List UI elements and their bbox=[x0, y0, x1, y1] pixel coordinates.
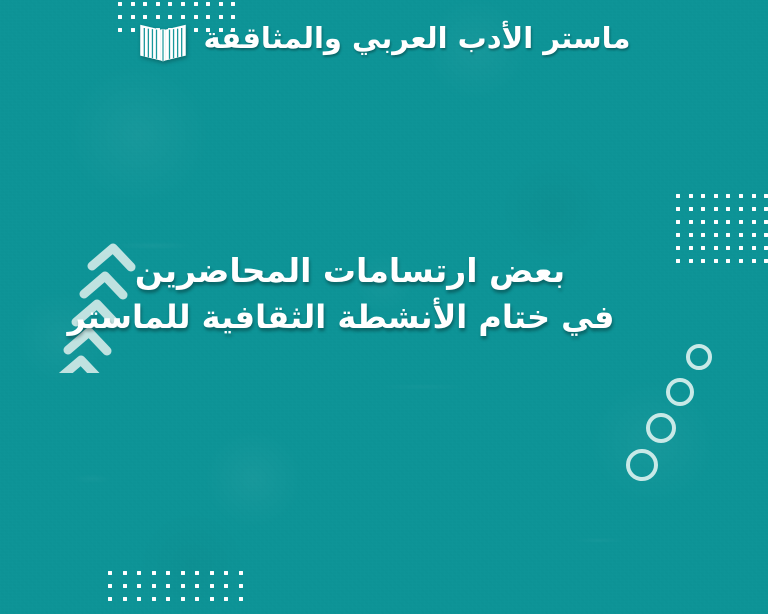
dot bbox=[701, 259, 705, 263]
dot bbox=[714, 194, 718, 198]
dot bbox=[108, 597, 112, 601]
dot bbox=[210, 571, 214, 575]
dot bbox=[701, 207, 705, 211]
dot bbox=[194, 2, 198, 6]
dot bbox=[181, 2, 185, 6]
dot bbox=[701, 246, 705, 250]
dot bbox=[123, 571, 127, 575]
dot bbox=[726, 246, 730, 250]
dot bbox=[108, 584, 112, 588]
dot bbox=[739, 233, 743, 237]
dot bbox=[195, 584, 199, 588]
dot bbox=[764, 220, 768, 224]
dot bbox=[156, 2, 160, 6]
circle-outlines-decoration bbox=[626, 344, 716, 470]
dot bbox=[714, 259, 718, 263]
dot bbox=[224, 597, 228, 601]
dot bbox=[195, 597, 199, 601]
dot bbox=[689, 207, 693, 211]
dot bbox=[131, 2, 135, 6]
dot bbox=[752, 233, 756, 237]
dot bbox=[137, 584, 141, 588]
dot bbox=[701, 220, 705, 224]
dot bbox=[239, 571, 243, 575]
dot bbox=[231, 2, 235, 6]
dot bbox=[752, 207, 756, 211]
dot bbox=[764, 233, 768, 237]
dot bbox=[181, 584, 185, 588]
dot bbox=[676, 207, 680, 211]
dot bbox=[195, 571, 199, 575]
dot bbox=[764, 259, 768, 263]
dot bbox=[764, 207, 768, 211]
dot bbox=[739, 259, 743, 263]
dot bbox=[676, 194, 680, 198]
dot bbox=[123, 584, 127, 588]
dot bbox=[181, 571, 185, 575]
heading-line-1: بعض ارتسامات المحاضرين bbox=[0, 248, 700, 295]
dot bbox=[726, 194, 730, 198]
dot bbox=[219, 2, 223, 6]
dot bbox=[714, 220, 718, 224]
main-heading-block: بعض ارتسامات المحاضرين في ختام الأنشطة ا… bbox=[0, 248, 700, 340]
dot bbox=[739, 194, 743, 198]
dot bbox=[166, 584, 170, 588]
dot bbox=[726, 220, 730, 224]
dot bbox=[166, 571, 170, 575]
circle-icon-1 bbox=[686, 344, 712, 370]
dot bbox=[701, 233, 705, 237]
dot bbox=[118, 2, 122, 6]
dot bbox=[764, 246, 768, 250]
dot bbox=[739, 220, 743, 224]
dot bbox=[206, 2, 210, 6]
dot bbox=[137, 597, 141, 601]
dot bbox=[689, 220, 693, 224]
dot bbox=[108, 571, 112, 575]
dot bbox=[143, 2, 147, 6]
dot bbox=[726, 233, 730, 237]
dot bbox=[752, 194, 756, 198]
poster-header: ماستر الأدب العربي والمثاقفة bbox=[0, 18, 768, 64]
dot bbox=[210, 584, 214, 588]
dot bbox=[689, 194, 693, 198]
dot bbox=[210, 597, 214, 601]
dot bbox=[181, 597, 185, 601]
dot bbox=[166, 597, 170, 601]
dot bbox=[152, 597, 156, 601]
dot bbox=[726, 207, 730, 211]
dot bbox=[764, 194, 768, 198]
dot bbox=[239, 597, 243, 601]
circle-icon-2 bbox=[666, 378, 694, 406]
open-book-icon bbox=[137, 18, 189, 64]
dot bbox=[714, 246, 718, 250]
dot bbox=[739, 207, 743, 211]
dot bbox=[676, 233, 680, 237]
heading-line-2: في ختام الأنشطة الثقافية للماستر bbox=[0, 295, 700, 340]
dot bbox=[224, 571, 228, 575]
dot bbox=[752, 220, 756, 224]
dot bbox=[752, 259, 756, 263]
dot bbox=[739, 246, 743, 250]
circle-icon-3 bbox=[646, 413, 676, 443]
circle-icon-4 bbox=[626, 449, 658, 481]
dot bbox=[168, 2, 172, 6]
dot bbox=[752, 246, 756, 250]
dot bbox=[701, 194, 705, 198]
chevron-icon-5 bbox=[60, 360, 99, 373]
dot-grid-bottom bbox=[108, 571, 243, 601]
dot bbox=[224, 584, 228, 588]
poster-canvas: ماستر الأدب العربي والمثاقفة bbox=[0, 0, 768, 614]
dot bbox=[137, 571, 141, 575]
dot bbox=[714, 207, 718, 211]
dot bbox=[152, 571, 156, 575]
dot bbox=[676, 220, 680, 224]
dot bbox=[689, 233, 693, 237]
dot bbox=[714, 233, 718, 237]
dot bbox=[152, 584, 156, 588]
dot bbox=[726, 259, 730, 263]
header-title: ماستر الأدب العربي والمثاقفة bbox=[203, 22, 630, 59]
dot bbox=[123, 597, 127, 601]
dot bbox=[239, 584, 243, 588]
